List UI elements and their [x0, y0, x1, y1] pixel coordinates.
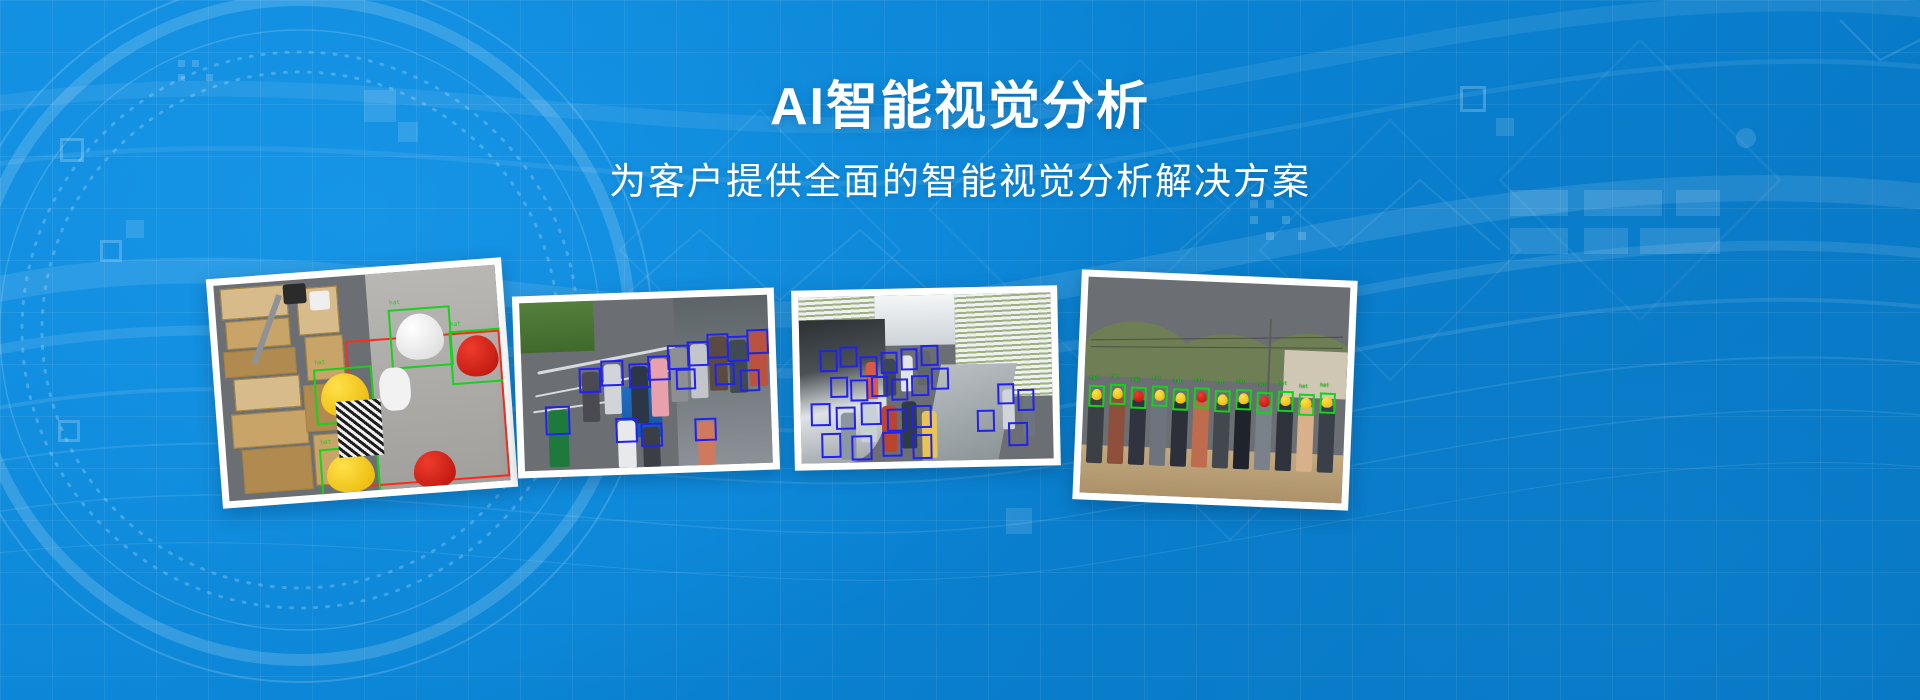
- detection-label: hat: [1194, 378, 1203, 383]
- detection-box-person: [545, 406, 571, 435]
- detection-box-hat: [1172, 388, 1189, 410]
- detection-box-hat: hat: [388, 305, 454, 370]
- detection-box-person: [977, 410, 995, 432]
- detection-box-hat: [1319, 392, 1336, 414]
- detection-box-person: [820, 350, 838, 372]
- detection-box-person: [852, 436, 873, 461]
- scene-bridge: [519, 295, 773, 472]
- worker: [1128, 399, 1146, 464]
- worker: [1191, 400, 1210, 468]
- detection-label: hat: [1257, 383, 1266, 388]
- detection-label: hat: [1215, 381, 1224, 386]
- gallery-image-station-platform-crowd[interactable]: [791, 285, 1061, 471]
- detection-box-person: [882, 432, 903, 457]
- detection-box-person: [1017, 389, 1035, 411]
- detection-box-person: [746, 328, 769, 354]
- detection-box-person: [1008, 422, 1029, 446]
- detection-label: hat: [314, 359, 325, 366]
- worker: [1295, 406, 1313, 471]
- detection-box-person: [615, 417, 638, 443]
- detection-label: hat: [1089, 376, 1098, 381]
- skylight: [874, 294, 956, 345]
- detection-box-hat: hat: [449, 327, 506, 385]
- detection-box-hat: [1109, 383, 1126, 405]
- detection-label: hat: [1236, 380, 1245, 385]
- detection-label: hat: [1152, 377, 1161, 382]
- detection-box-person: [912, 434, 933, 459]
- detection-label: hat: [450, 321, 461, 328]
- detection-label: hat: [1131, 378, 1140, 383]
- detection-box-person: [578, 368, 601, 394]
- sample-image-gallery: hat hat hat hat: [0, 250, 1920, 540]
- worker: [1212, 403, 1230, 468]
- detection-box-person: [694, 418, 717, 442]
- worker: [1107, 396, 1126, 464]
- gallery-image-pedestrian-bridge-crowd[interactable]: [512, 287, 780, 478]
- detection-box-person: [715, 363, 736, 386]
- detection-label: hat: [1111, 375, 1120, 380]
- worker: [1170, 401, 1188, 466]
- white-bag: [378, 366, 412, 411]
- page-subtitle: 为客户提供全面的智能视觉分析解决方案: [0, 160, 1920, 204]
- detection-box-person: [861, 402, 882, 426]
- detection-box-hat: [1277, 390, 1294, 412]
- detection-box-hat: [1214, 390, 1231, 412]
- tree-line: [519, 301, 595, 354]
- detection-box-person: [860, 356, 878, 378]
- scene-warehouse: hat hat hat hat: [213, 265, 510, 502]
- detection-box-person: [640, 423, 663, 447]
- detection-box-person: [601, 360, 624, 386]
- gallery-image-outdoor-hardhat-crowd[interactable]: hat hat hat hat hat hat hat hat hat hat …: [1072, 269, 1357, 510]
- page-title: AI智能视觉分析: [0, 78, 1920, 138]
- detection-box-person: [870, 375, 888, 397]
- detection-box-person: [911, 375, 929, 397]
- detection-label: hat: [1173, 380, 1182, 385]
- detection-box-person: [740, 369, 761, 392]
- scene-platform: [798, 292, 1053, 463]
- detection-box-hat: [1130, 386, 1147, 408]
- hero-banner: AI智能视觉分析 为客户提供全面的智能视觉分析解决方案: [0, 0, 1920, 700]
- detection-box-person: [900, 348, 918, 370]
- dark-object: [283, 283, 306, 304]
- detection-box-hat: [1193, 387, 1210, 409]
- detection-box-person: [911, 404, 932, 428]
- detection-box-hat: [1151, 385, 1168, 407]
- decor-square-fill: [126, 220, 144, 238]
- detection-box-person: [840, 346, 858, 368]
- detection-box-person: [821, 433, 842, 458]
- worker: [1149, 398, 1168, 466]
- detection-label: hat: [1299, 385, 1308, 390]
- white-tray: [309, 290, 331, 311]
- detection-label: hat: [1320, 384, 1329, 389]
- detection-box-person: [920, 345, 938, 367]
- worker: [1233, 402, 1252, 470]
- detection-box-person: [675, 368, 696, 391]
- detection-label: hat: [320, 439, 331, 446]
- detection-box-person: [880, 352, 898, 374]
- detection-box-person: [850, 379, 868, 401]
- gallery-image-warehouse-helmet-detection[interactable]: hat hat hat hat: [206, 257, 518, 509]
- detection-label: hat: [389, 300, 400, 307]
- detection-box-person: [830, 376, 848, 398]
- worker: [1275, 403, 1294, 471]
- detection-box-hat: [1235, 389, 1252, 411]
- worker: [1254, 405, 1272, 470]
- detection-box-person: [886, 408, 907, 432]
- worker: [1316, 405, 1335, 473]
- detection-box-person: [891, 378, 909, 400]
- detection-box-person: [931, 368, 949, 390]
- worker: [1086, 398, 1104, 463]
- detection-box-hat: [1298, 394, 1315, 416]
- scene-outdoor: hat hat hat hat hat hat hat hat hat hat …: [1080, 277, 1351, 504]
- detection-box-person: [836, 406, 857, 430]
- detection-box-hat: [1088, 385, 1105, 407]
- detection-box-person: [811, 403, 832, 427]
- detection-box-hat: [1256, 392, 1273, 414]
- detection-box-person: [997, 383, 1015, 405]
- hero-copy: AI智能视觉分析 为客户提供全面的智能视觉分析解决方案: [0, 78, 1920, 204]
- patterned-scarf: [335, 399, 384, 458]
- detection-label: hat: [1278, 382, 1287, 387]
